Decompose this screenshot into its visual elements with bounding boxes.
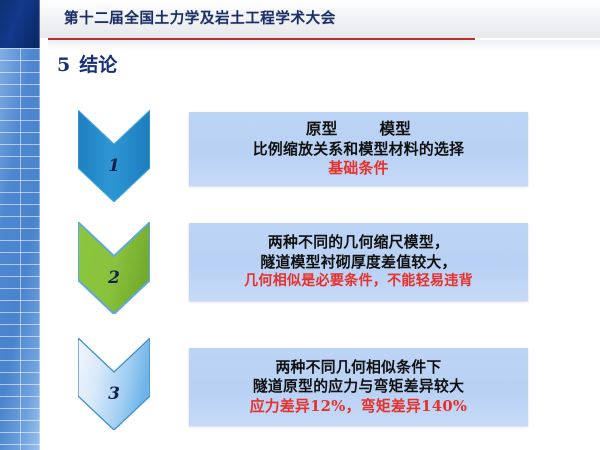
page-title: 5结论 xyxy=(57,50,117,77)
sidebar-dark-block xyxy=(0,0,40,48)
box1-line2: 比例缩放关系和模型材料的选择 xyxy=(253,140,464,160)
header-red-rule xyxy=(48,38,475,40)
box1-line1: 原型模型 xyxy=(306,119,411,139)
box2-line3-highlight: 几何相似是必要条件，不能轻易违背 xyxy=(244,272,473,290)
conclusion-box-2: 两种不同的几何缩尺模型， 隧道模型衬砌厚度差值较大， 几何相似是必要条件，不能轻… xyxy=(189,223,528,301)
left-decorative-sidebar xyxy=(0,0,40,450)
box3-line1: 两种不同几何相似条件下 xyxy=(275,358,441,378)
chevron-shape-2: 2 xyxy=(78,222,150,314)
chevron-shape-3: 3 xyxy=(78,338,150,430)
box3-line3-highlight: 应力差异12%，弯矩差异140% xyxy=(250,397,468,417)
section-title-text: 结论 xyxy=(79,54,117,76)
conference-title: 第十二届全国土力学及岩土工程学术大会 xyxy=(64,7,336,28)
box2-line1: 两种不同的几何缩尺模型， xyxy=(268,233,449,253)
chevron-shape-1: 1 xyxy=(78,110,150,202)
box3-line2: 隧道原型的应力与弯矩差异较大 xyxy=(253,377,464,397)
box1-line3-highlight: 基础条件 xyxy=(328,159,388,179)
section-number: 5 xyxy=(57,54,70,76)
box2-line2: 隧道模型衬砌厚度差值较大， xyxy=(260,253,456,273)
slide-canvas: 第十二届全国土力学及岩土工程学术大会 5结论 1 原型模型 比例缩放关系和模型材… xyxy=(0,0,600,450)
conclusion-box-1: 原型模型 比例缩放关系和模型材料的选择 基础条件 xyxy=(189,112,528,186)
box1-line1-a: 原型 xyxy=(306,119,338,138)
sidebar-edge-highlight xyxy=(39,0,40,450)
sidebar-vertical-line xyxy=(20,48,21,450)
box1-line1-b: 模型 xyxy=(380,119,412,138)
conclusion-box-3: 两种不同几何相似条件下 隧道原型的应力与弯矩差异较大 应力差异12%，弯矩差异1… xyxy=(189,348,528,426)
header-fade xyxy=(48,40,600,50)
